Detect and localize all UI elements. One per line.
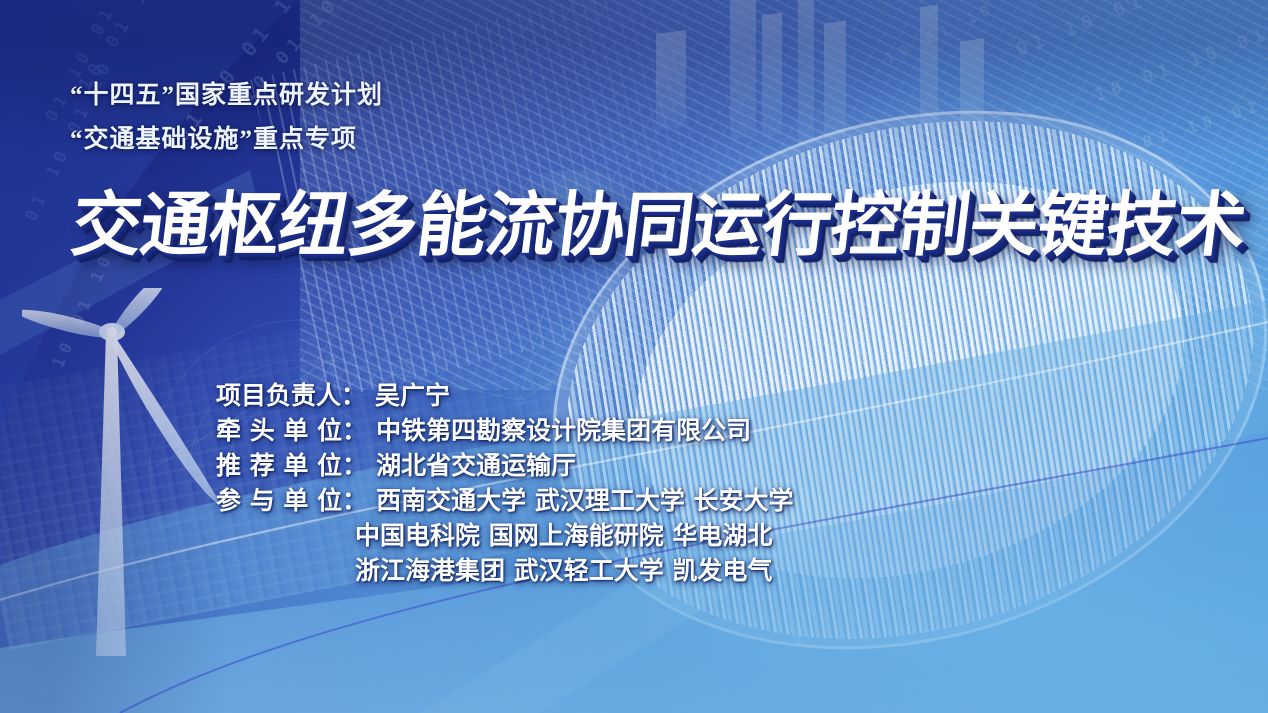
info-row-recommend-unit: 推 荐 单 位：湖北省交通运输厅 <box>216 448 794 483</box>
info-row-participants: 参 与 单 位：西南交通大学 武汉理工大学 长安大学 <box>216 483 794 518</box>
leader-value: 吴广宁 <box>375 381 450 410</box>
participants-label: 参 与 单 位： <box>216 486 367 515</box>
program-line-1: “十四五”国家重点研发计划 <box>70 74 710 118</box>
program-line-2: “交通基础设施”重点专项 <box>70 118 710 162</box>
recommend-label: 推 荐 单 位： <box>216 451 367 480</box>
info-row-leader: 项目负责人：吴广宁 <box>216 378 794 413</box>
participants-line-2-row: 中国电科院 国网上海能研院 华电湖北 <box>216 518 794 553</box>
lead-unit-label: 牵 头 单 位： <box>216 416 367 445</box>
project-info-block: 项目负责人：吴广宁 牵 头 单 位：中铁第四勘察设计院集团有限公司 推 荐 单 … <box>216 378 794 588</box>
participants-line-3: 浙江海港集团 武汉轻工大学 凯发电气 <box>355 556 772 585</box>
info-row-lead-unit: 牵 头 单 位：中铁第四勘察设计院集团有限公司 <box>216 413 794 448</box>
participants-line-2: 中国电科院 国网上海能研院 华电湖北 <box>355 521 772 550</box>
leader-label: 项目负责人： <box>216 381 366 410</box>
program-subtitle: “十四五”国家重点研发计划 “交通基础设施”重点专项 <box>70 74 710 162</box>
lead-unit-value: 中铁第四勘察设计院集团有限公司 <box>376 416 751 445</box>
participants-line-1: 西南交通大学 武汉理工大学 长安大学 <box>376 486 793 515</box>
poster-canvas: 01 10 01 10 01 10 01 10 01 01 10 01 10 0… <box>0 0 1268 713</box>
recommend-value: 湖北省交通运输厅 <box>376 451 576 480</box>
participants-line-3-row: 浙江海港集团 武汉轻工大学 凯发电气 <box>216 553 794 588</box>
page-title: 交通枢纽多能流协同运行控制关键技术 <box>67 186 1227 264</box>
